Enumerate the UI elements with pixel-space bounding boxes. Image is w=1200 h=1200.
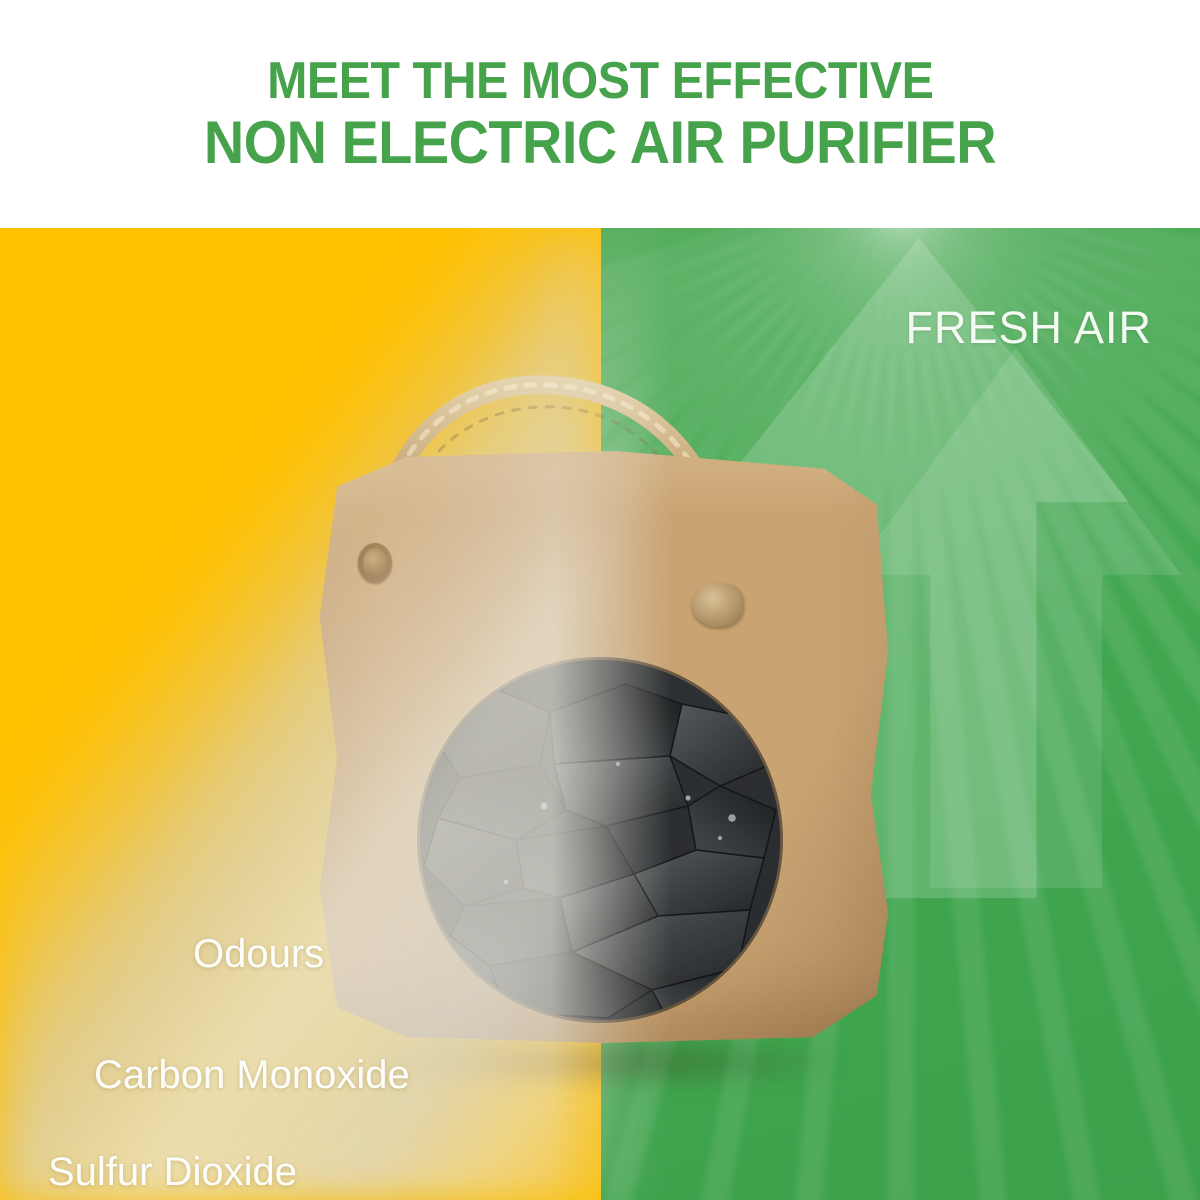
- comparison-panel: FRESH AIR: [0, 228, 1200, 1200]
- pollutant-label-sulfur-dioxide: Sulfur Dioxide: [48, 1150, 297, 1195]
- pollutant-label-group: Odours Carbon Monoxide Sulfur Dioxide Mo…: [0, 228, 1200, 1200]
- headline-line-1: MEET THE MOST EFFECTIVE: [267, 55, 933, 108]
- pollutant-label-carbon-monoxide: Carbon Monoxide: [94, 1053, 410, 1098]
- pollutant-label-odours: Odours: [193, 932, 324, 977]
- headline-line-2: NON ELECTRIC AIR PURIFIER: [204, 112, 996, 173]
- header-banner: MEET THE MOST EFFECTIVE NON ELECTRIC AIR…: [0, 0, 1200, 228]
